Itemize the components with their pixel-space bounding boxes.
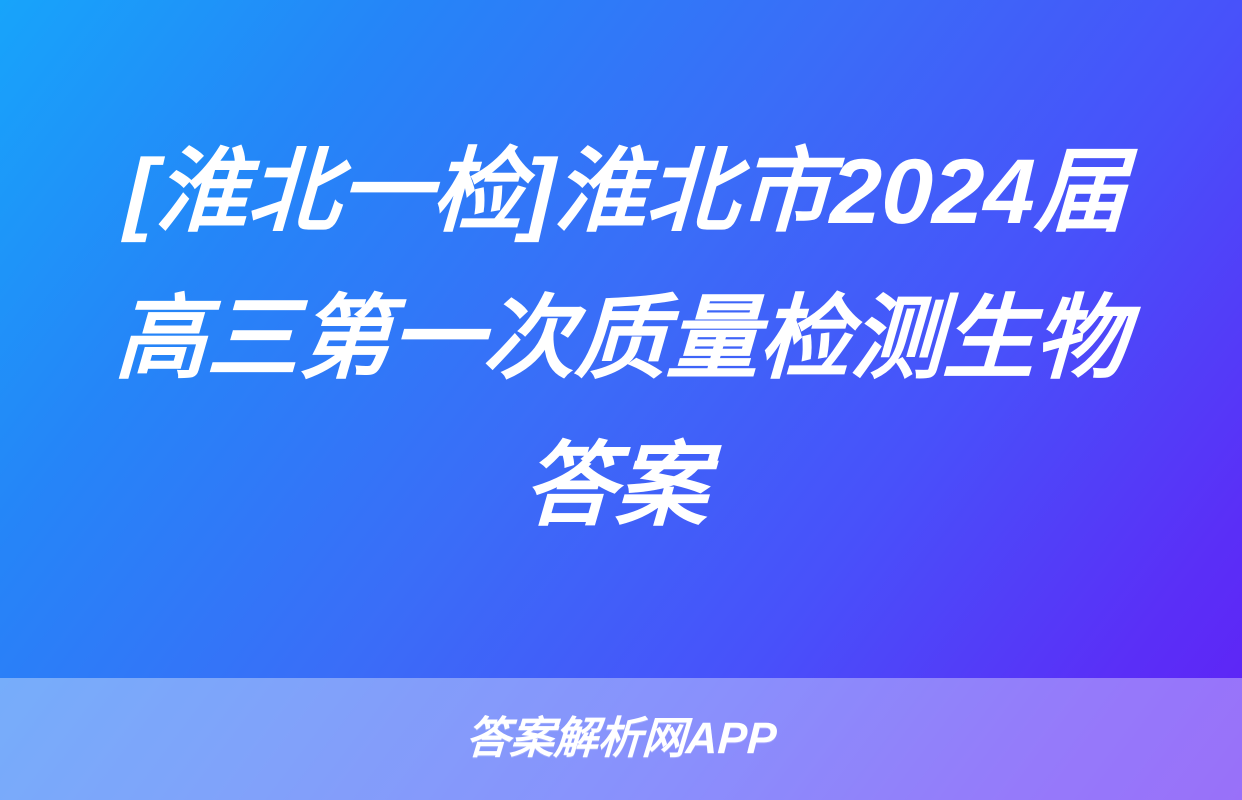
poster-canvas: [淮北一检]淮北市2024届高三第一次质量检测生物答案 答案解析网APP [0,0,1242,800]
page-title: [淮北一检]淮北市2024届高三第一次质量检测生物答案 [88,119,1153,560]
watermark-band: 答案解析网APP [0,678,1242,800]
headline-block: [淮北一检]淮北市2024届高三第一次质量检测生物答案 [0,0,1242,678]
app-watermark-label: 答案解析网APP [465,717,778,761]
